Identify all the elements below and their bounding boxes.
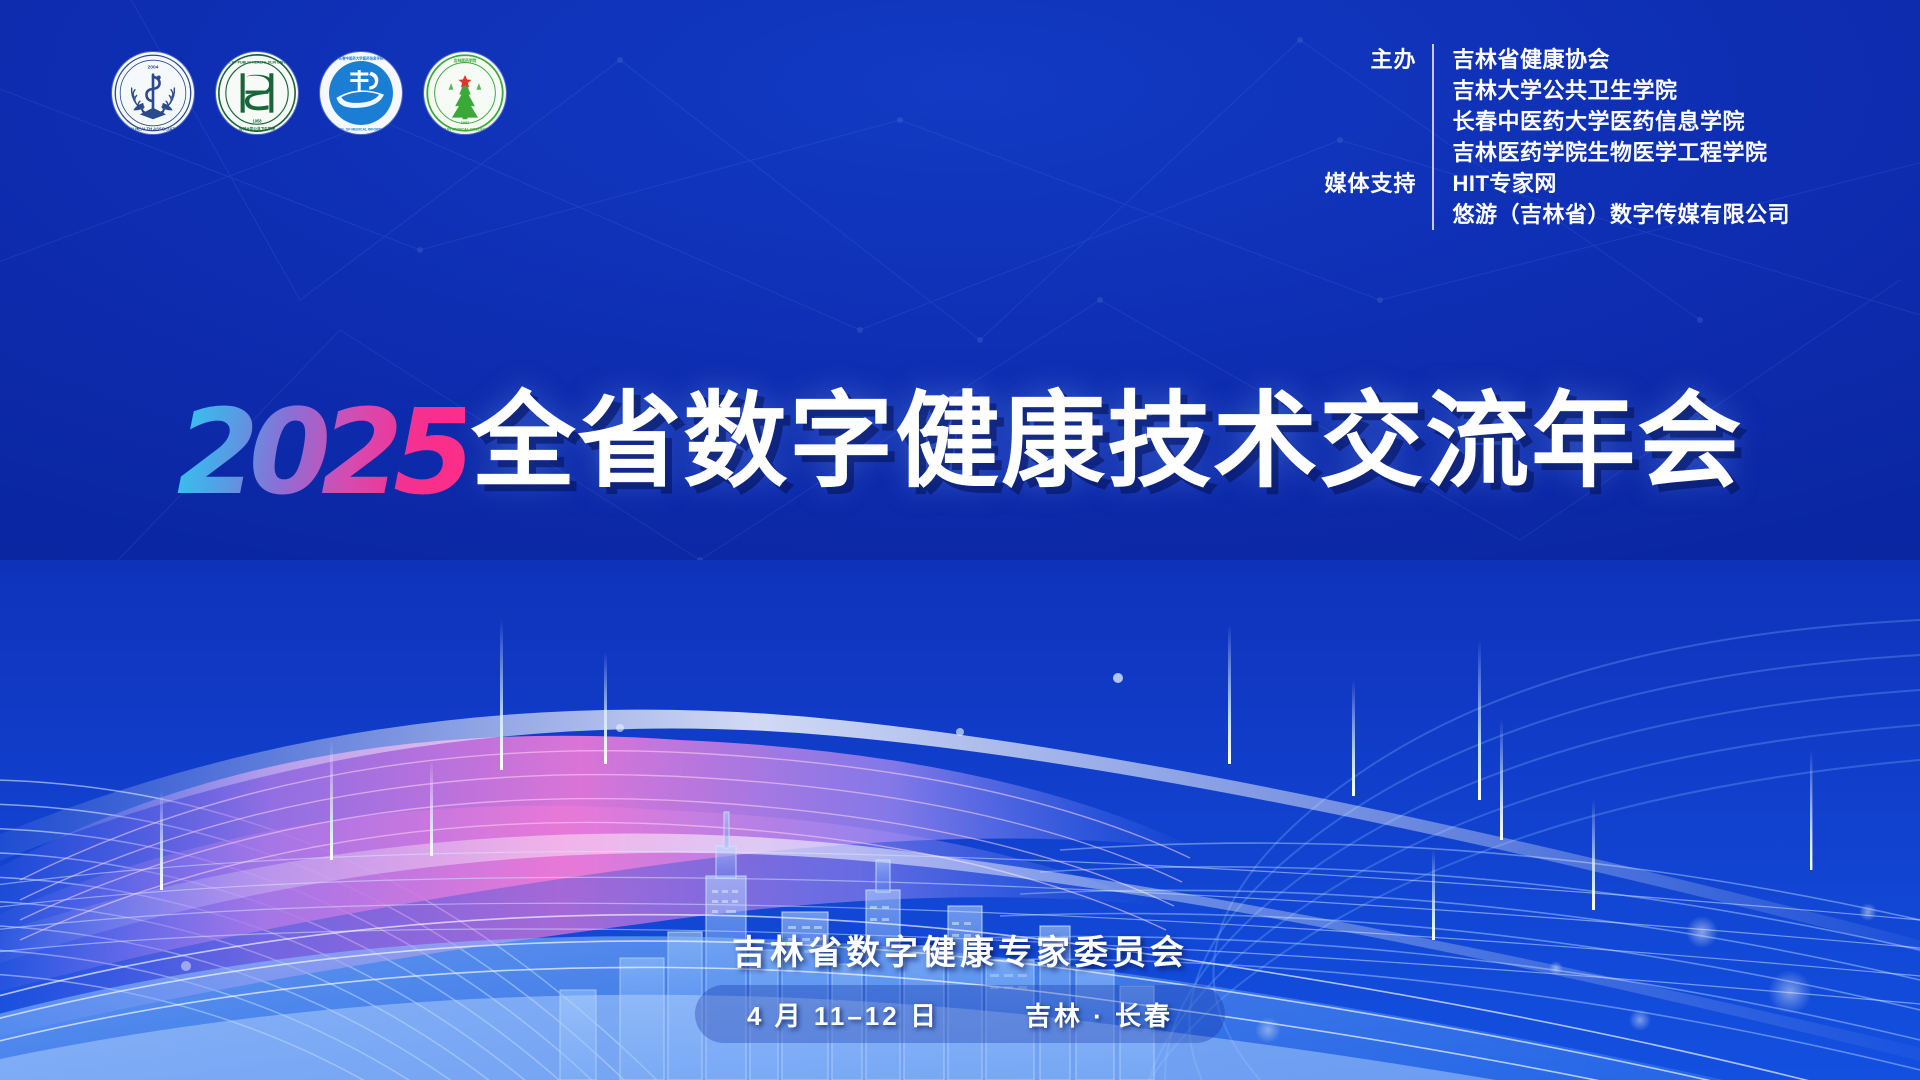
page-title: 全省数字健康技术交流年会 [471,384,1743,500]
svg-text:吉林大学公共卫生学院: 吉林大学公共卫生学院 [239,126,275,131]
svg-text:1952: 1952 [461,121,469,125]
event-date: 4 月 11–12 日 [747,996,939,1033]
host-item: 吉林省健康协会 [1452,44,1767,75]
jilin-medical-college-logo: 1952 吉林医药学院 JILIN MEDICAL COLLEGE [424,52,506,134]
media-support-list: HIT专家网 悠游（吉林省）数字传媒有限公司 [1432,168,1790,230]
svg-text:2004: 2004 [148,64,159,70]
media-item: HIT专家网 [1452,168,1790,199]
changchun-univ-chinese-medicine-logo: 长春中医药大学医药信息学院 SCHOOL OF MEDICAL INFORMAT… [320,52,402,134]
host-item: 吉林医药学院生物医学工程学院 [1452,137,1767,168]
svg-text:JILIN MEDICAL COLLEGE: JILIN MEDICAL COLLEGE [442,128,489,132]
media-support-group: 媒体支持 HIT专家网 悠游（吉林省）数字传媒有限公司 [1314,168,1790,230]
svg-text:长春中医药大学医药信息学院: 长春中医药大学医药信息学院 [339,55,384,60]
svg-text:1958: 1958 [252,119,262,124]
organizer-logo-row: 2004 JILIN HEALTH ASSOCIATION 1958 [112,52,506,134]
media-support-label: 媒体支持 [1314,168,1432,199]
svg-text:SCHOOL OF PUBLIC HEALTH JILIN: SCHOOL OF PUBLIC HEALTH JILIN UNIVERSITY [216,60,298,64]
host-list: 吉林省健康协会 吉林大学公共卫生学院 长春中医药大学医药信息学院 吉林医药学院生… [1432,44,1767,168]
committee-name: 吉林省数字健康专家委员会 [0,925,1920,974]
svg-text:JILIN HEALTH ASSOCIATION: JILIN HEALTH ASSOCIATION [124,127,183,132]
host-item: 长春中医药大学医药信息学院 [1452,106,1767,137]
title-block: 2025全省数字健康技术交流年会 [0,356,1920,521]
host-item: 吉林大学公共卫生学院 [1452,75,1767,106]
event-location: 吉林 · 长春 [1025,996,1173,1033]
year-2025: 2025 [177,383,465,521]
svg-text:SCHOOL OF MEDICAL INFORMATION: SCHOOL OF MEDICAL INFORMATION [330,128,392,132]
host-group: 主办 吉林省健康协会 吉林大学公共卫生学院 长春中医药大学医药信息学院 吉林医药… [1314,44,1790,168]
date-location-pill: 4 月 11–12 日 吉林 · 长春 [695,985,1225,1043]
jilin-health-association-logo: 2004 JILIN HEALTH ASSOCIATION [112,52,194,134]
organizers-block: 主办 吉林省健康协会 吉林大学公共卫生学院 长春中医药大学医药信息学院 吉林医药… [1314,44,1790,230]
jilin-university-public-health-logo: 1958 SCHOOL OF PUBLIC HEALTH JILIN UNIVE… [216,52,298,134]
media-item: 悠游（吉林省）数字传媒有限公司 [1452,199,1790,230]
host-label: 主办 [1314,44,1432,75]
conference-banner: 2004 JILIN HEALTH ASSOCIATION 1958 [0,0,1920,1080]
svg-text:吉林医药学院: 吉林医药学院 [454,58,477,63]
